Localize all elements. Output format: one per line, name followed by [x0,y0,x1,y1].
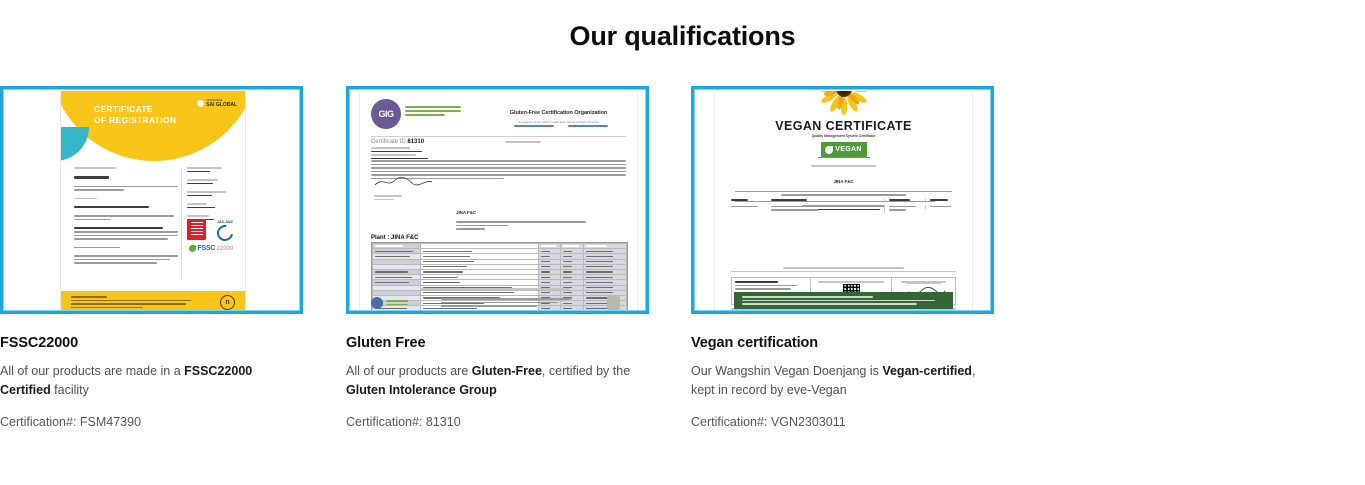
certificate-id-line: Certificate ID 81310 [371,139,521,145]
certificate-id-value: 81310 [407,139,424,145]
sai-global-logo: ASSURANCE SAI GLOBAL [197,98,237,108]
certificate-body-right: JAS-ANZ FSSC 22000 [187,167,237,222]
gluten-intolerance-group-wordmark [405,106,461,118]
certificate-document-gluten-free: GIG Gluten-Free Certification Organizati… [359,91,638,314]
signature-block [374,176,434,188]
anab-circle-icon [214,222,236,244]
certificate-heading-line1: CERTIFICATE [94,104,176,115]
anab-logo-icon: JAS-ANZ [213,220,237,239]
page-title: Our qualifications [0,0,1365,56]
certificate-footer [371,296,626,312]
certificate-image-vegan[interactable]: VEGAN CERTIFICATE Quality Management Sys… [691,86,994,314]
fssc-wordmark: FSSC [198,245,215,252]
gig-logo-icon: GIG [371,99,401,129]
vegan-badge: VEGAN [821,142,867,157]
sai-global-wordmark: ASSURANCE SAI GLOBAL [206,98,237,108]
teal-accent-shape [61,127,89,161]
certificate-heading-line2: OF REGISTRATION [94,115,176,126]
sunflower-icon [812,91,876,115]
plant-label: Plant : JINA F&C [371,235,418,241]
footer-fine-print [71,296,191,310]
certificate-body-left [74,167,178,266]
signature-icon [374,177,434,189]
contact-links[interactable] [501,125,620,127]
certification-number-vegan: Certification#: VGN2303011 [691,415,996,429]
footer-gig-wordmark [386,300,408,307]
card-description-gluten-free: All of our products are Gluten-Free, cer… [346,362,651,400]
table-header-row [731,199,956,203]
sai-global-dot-icon [197,100,204,107]
footer-badge-icon: n [220,295,235,310]
card-title-vegan: Vegan certification [691,335,996,351]
certificate-footer-band [734,292,953,309]
header-divider [371,136,626,137]
organization-subtitle: A program of the Gluten Intolerance Grou… [491,120,626,124]
table-row [731,206,956,213]
footer-seal-icon [607,296,620,311]
card-title-gluten-free: Gluten Free [346,335,651,351]
organization-name-block: Gluten-Free Certification Organization A… [491,101,626,124]
certificate-header-band: CERTIFICATE OF REGISTRATION ASSURANCE SA… [61,91,245,165]
certificate-document-fssc22000: CERTIFICATE OF REGISTRATION ASSURANCE SA… [60,91,246,313]
certificate-document-vegan: VEGAN CERTIFICATE Quality Management Sys… [714,91,973,313]
certificate-footer-band: n [61,291,245,313]
certification-number-gluten-free: Certification#: 81310 [346,415,651,429]
email-link-icon[interactable] [568,125,608,127]
organization-name: Gluten-Free Certification Organization [510,110,608,116]
card-description-fssc22000: All of our products are made in a FSSC22… [0,362,305,400]
vegan-badge-subtitle [818,157,870,160]
vegan-leaf-icon [825,146,833,154]
website-link-icon[interactable] [514,125,554,127]
table-note [420,288,570,292]
anab-label: JAS-ANZ [213,220,237,224]
vertical-divider [181,167,182,279]
issue-meta [505,141,565,145]
certificate-id-block: Certificate ID 81310 [371,139,521,161]
certificate-subheading: Quality Management System Certificate [715,134,972,138]
company-name: JINA F&C [833,179,853,184]
fssc-leaf-icon [188,244,196,252]
vegan-badge-text: VEGAN [835,146,861,153]
fssc-22000-logo: FSSC 22000 [189,245,233,252]
footer-logo-icon [371,297,383,309]
certificate-header: GIG Gluten-Free Certification Organizati… [371,99,626,133]
table-row [373,311,627,314]
qualification-card-vegan: VEGAN CERTIFICATE Quality Management Sys… [691,86,996,429]
certification-number-fssc22000: Certification#: FSM47390 [0,415,305,429]
qualification-card-gluten-free: GIG Gluten-Free Certification Organizati… [346,86,651,429]
company-name: JINA F&C [456,210,476,215]
certificate-id-label: Certificate ID [371,139,406,145]
scope-table [731,199,956,213]
certificate-heading: CERTIFICATE OF REGISTRATION [94,104,176,126]
card-title-fssc22000: FSSC22000 [0,335,305,351]
card-description-vegan: Our Wangshin Vegan Doenjang is Vegan-cer… [691,362,996,400]
certificate-body: JAS-ANZ FSSC 22000 [61,167,245,285]
footer-address [441,298,571,309]
fssc-number: 22000 [216,245,233,252]
qualification-card-fssc22000: CERTIFICATE OF REGISTRATION ASSURANCE SA… [0,86,305,429]
certificate-image-gluten-free[interactable]: GIG Gluten-Free Certification Organizati… [346,86,649,314]
jas-anz-logo-icon [187,219,206,240]
certificate-image-fssc22000[interactable]: CERTIFICATE OF REGISTRATION ASSURANCE SA… [0,86,303,314]
gig-logo-text: GIG [378,109,393,119]
certificate-heading: VEGAN CERTIFICATE [715,119,972,133]
